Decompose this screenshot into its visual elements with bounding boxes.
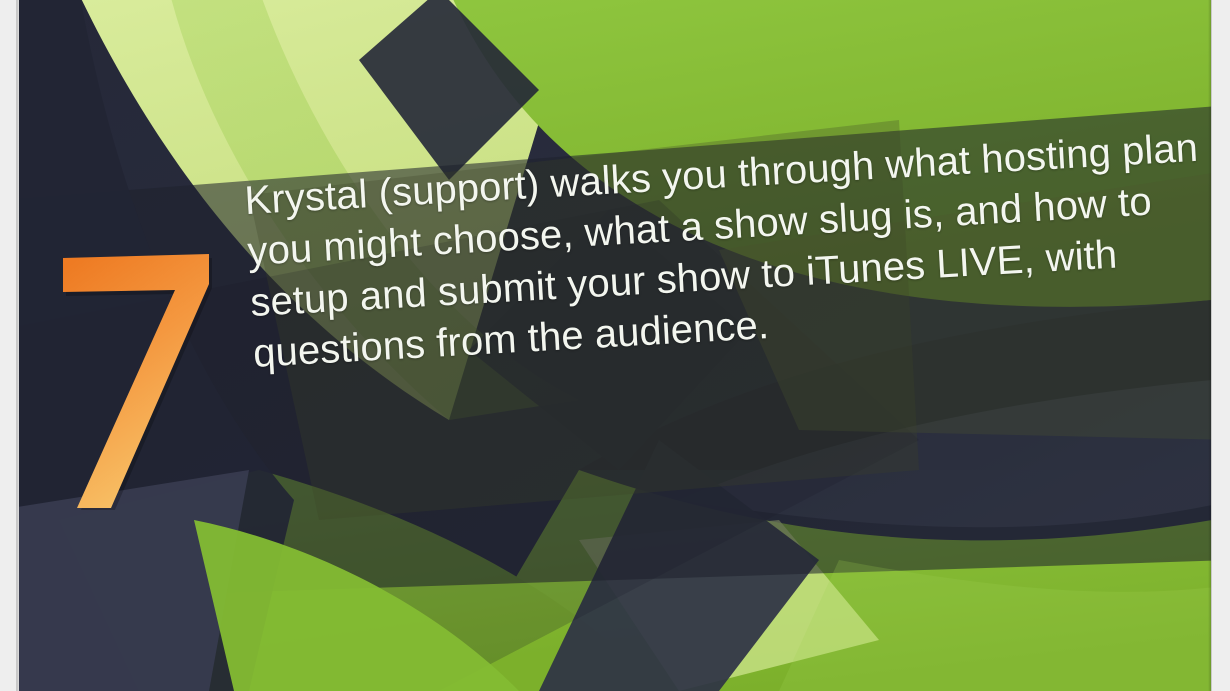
slide-viewer: Krystal (support) walks you through what… <box>0 0 1230 691</box>
viewer-left-shadow <box>17 0 20 691</box>
slide-canvas: Krystal (support) walks you through what… <box>19 0 1212 691</box>
viewer-right-rule <box>1211 0 1212 691</box>
viewer-left-margin <box>0 0 15 691</box>
viewer-right-margin <box>1213 0 1230 691</box>
viewer-right-shadow <box>1208 0 1211 691</box>
